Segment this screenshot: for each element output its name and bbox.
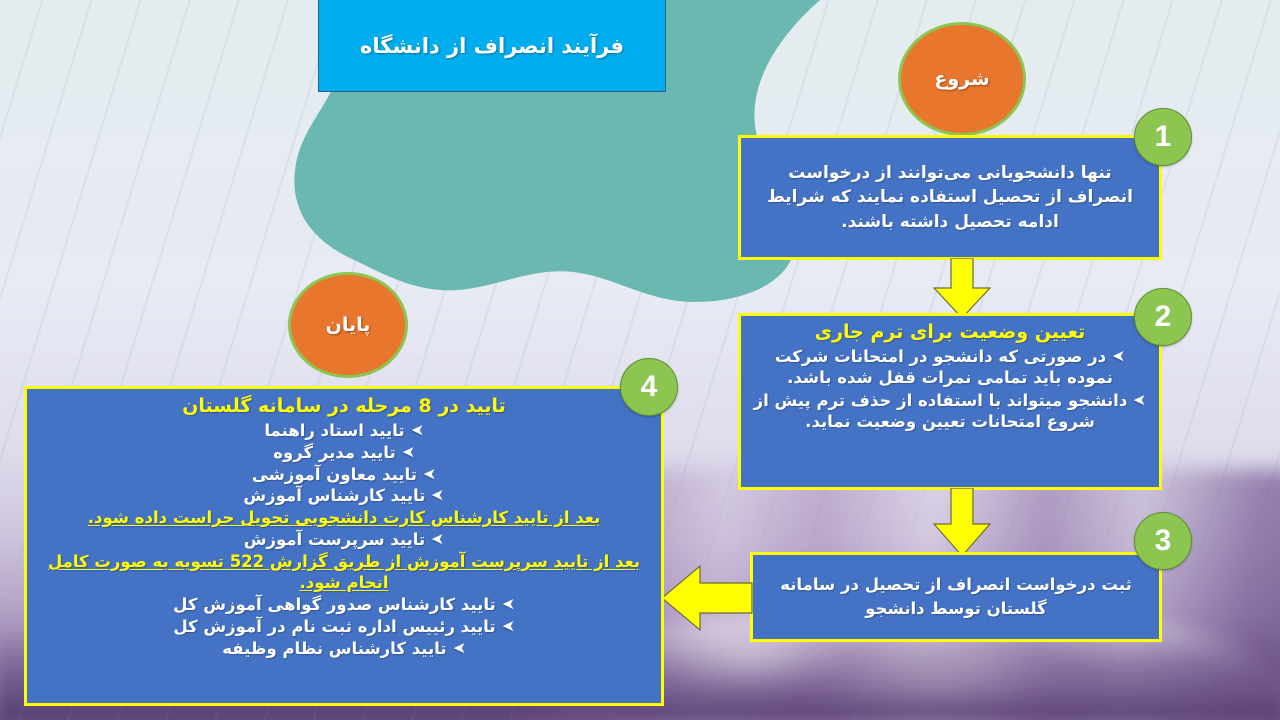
list-item: ➤تایید مدیر گروه xyxy=(43,442,645,464)
step-2-number-badge: 2 xyxy=(1134,288,1192,346)
list-item: ➤تایید استاد راهنما xyxy=(43,420,645,442)
list-item: ➤دانشجو میتواند با استفاده از حذف ترم پی… xyxy=(753,390,1147,433)
step-4-number: 4 xyxy=(641,370,658,404)
start-terminator-label: شروع xyxy=(934,68,989,90)
step-2-bullet-2: دانشجو میتواند با استفاده از حذف ترم پیش… xyxy=(754,391,1128,431)
step-4-bullet-8: تایید کارشناس نظام وظیفه xyxy=(222,639,446,658)
step-3-box: ثبت درخواست انصراف از تحصیل در سامانه گل… xyxy=(750,552,1162,642)
step-4-bullet-list-2: ➤تایید سرپرست آموزش xyxy=(43,529,645,551)
step-4-bullet-1: تایید استاد راهنما xyxy=(264,421,404,440)
list-item: ➤تایید کارشناس صدور گواهی آموزش کل xyxy=(43,594,645,616)
step-1-number-badge: 1 xyxy=(1134,108,1192,166)
chevron-bullet-icon: ➤ xyxy=(502,594,515,615)
step-4-bullet-list-3: ➤تایید کارشناس صدور گواهی آموزش کل ➤تایی… xyxy=(43,594,645,659)
arrow-step3-to-step4-icon xyxy=(662,562,754,634)
list-item: ➤تایید معاون آموزشی xyxy=(43,464,645,486)
step-4-heading: تایید در 8 مرحله در سامانه گلستان xyxy=(43,394,645,419)
step-3-number-badge: 3 xyxy=(1134,512,1192,570)
step-4-bullet-5: تایید سرپرست آموزش xyxy=(244,530,425,549)
step-4-bullet-7: تایید رئییس اداره ثبت نام در آموزش کل xyxy=(173,617,495,636)
page-title: فرآیند انصراف از دانشگاه xyxy=(318,0,666,92)
step-1-box: تنها دانشجویانی می‌توانند از درخواست انص… xyxy=(738,135,1162,260)
step-4-bullet-6: تایید کارشناس صدور گواهی آموزش کل xyxy=(173,595,496,614)
step-4-box: تایید در 8 مرحله در سامانه گلستان ➤تایید… xyxy=(24,386,664,706)
list-item: ➤تایید کارشناس نظام وظیفه xyxy=(43,638,645,660)
step-4-bullet-list: ➤تایید استاد راهنما ➤تایید مدیر گروه ➤تا… xyxy=(43,420,645,507)
chevron-bullet-icon: ➤ xyxy=(453,638,466,659)
arrow-step1-to-step2-icon xyxy=(930,258,994,320)
list-item: ➤تایید رئییس اداره ثبت نام در آموزش کل xyxy=(43,616,645,638)
chevron-bullet-icon: ➤ xyxy=(411,420,424,441)
step-2-box: تعیین وضعیت برای ترم جاری ➤در صورتی که د… xyxy=(738,313,1162,490)
step-2-number: 2 xyxy=(1155,300,1172,334)
start-terminator: شروع xyxy=(898,22,1026,136)
step-1-body: تنها دانشجویانی می‌توانند از درخواست انص… xyxy=(755,161,1145,233)
chevron-bullet-icon: ➤ xyxy=(402,442,415,463)
chevron-bullet-icon: ➤ xyxy=(1112,346,1125,366)
step-3-body: ثبت درخواست انصراف از تحصیل در سامانه گل… xyxy=(769,573,1143,621)
step-2-heading: تعیین وضعیت برای ترم جاری xyxy=(753,320,1147,345)
step-3-number: 3 xyxy=(1155,524,1172,558)
step-1-number: 1 xyxy=(1155,120,1172,154)
step-2-bullet-list: ➤در صورتی که دانشجو در امتحانات شرکت نمو… xyxy=(753,346,1147,433)
chevron-bullet-icon: ➤ xyxy=(431,529,444,550)
chevron-bullet-icon: ➤ xyxy=(1133,390,1146,410)
page-title-text: فرآیند انصراف از دانشگاه xyxy=(360,34,624,58)
arrow-step2-to-step3-icon xyxy=(930,488,994,558)
chevron-bullet-icon: ➤ xyxy=(423,464,436,485)
step-4-note-1: بعد از تایید کارشناس کارت دانشجویی تحویل… xyxy=(43,507,645,529)
list-item: ➤تایید کارشناس آموزش xyxy=(43,485,645,507)
step-4-bullet-3: تایید معاون آموزشی xyxy=(252,465,417,484)
step-4-bullet-2: تایید مدیر گروه xyxy=(273,443,395,462)
step-4-number-badge: 4 xyxy=(620,358,678,416)
chevron-bullet-icon: ➤ xyxy=(431,485,444,506)
step-2-bullet-1: در صورتی که دانشجو در امتحانات شرکت نمود… xyxy=(775,347,1113,387)
chevron-bullet-icon: ➤ xyxy=(502,616,515,637)
end-terminator-label: پایان xyxy=(326,314,371,336)
list-item: ➤در صورتی که دانشجو در امتحانات شرکت نمو… xyxy=(753,346,1147,389)
step-4-bullet-4: تایید کارشناس آموزش xyxy=(243,486,425,505)
step-4-note-2: بعد از تایید سرپرست آموزش از طریق گزارش … xyxy=(43,551,645,595)
end-terminator: پایان xyxy=(288,272,408,378)
list-item: ➤تایید سرپرست آموزش xyxy=(43,529,645,551)
